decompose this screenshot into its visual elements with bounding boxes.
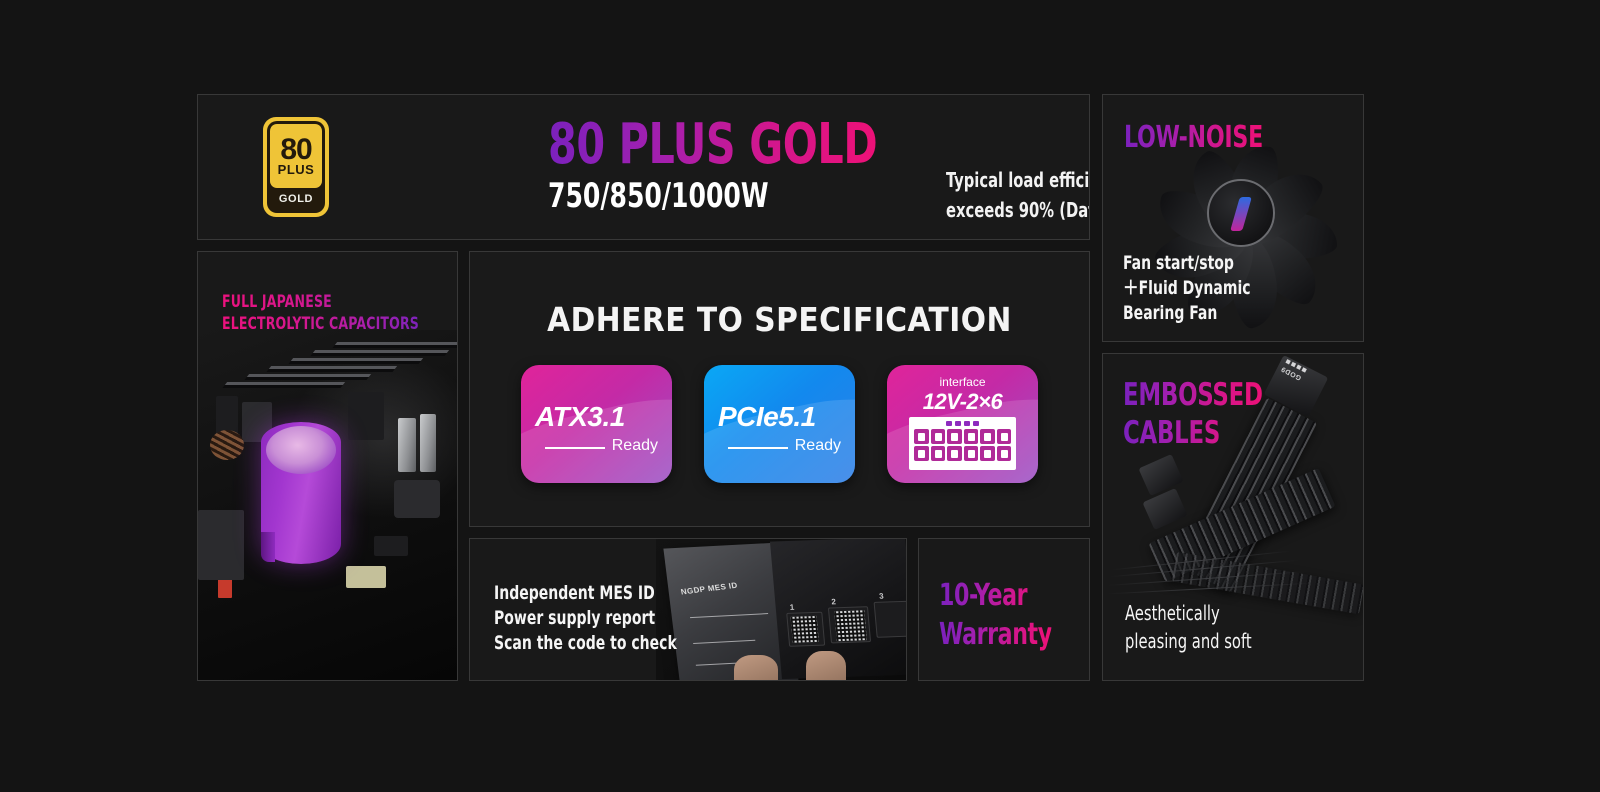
- spec-badge-list: ATX3.1 Ready PCIe5.1 Ready interface 12V…: [470, 365, 1089, 483]
- badge-number: 80: [280, 137, 311, 163]
- fan-title: LOW-NOISE: [1124, 122, 1263, 154]
- badge-pcie51[interactable]: PCIe5.1 Ready: [704, 365, 855, 483]
- spec-heading: ADHERE TO SPECIFICATION: [470, 300, 1089, 339]
- efficiency-wattage: 750/850/1000W: [548, 176, 769, 216]
- badge-atx31[interactable]: ATX3.1 Ready: [521, 365, 672, 483]
- cables-title-line-1: EMBOSSED: [1123, 376, 1263, 414]
- warranty-line-1: 10-Year: [939, 576, 1052, 615]
- fan-line-1: Fan start/stop: [1123, 251, 1251, 276]
- warranty-text: 10-Year Warranty: [939, 576, 1076, 654]
- qr-code-2: [834, 610, 867, 641]
- cables-desc-line-2: pleasing and soft: [1125, 627, 1252, 655]
- mes-line-3: Scan the code to check: [494, 631, 677, 656]
- badge-plus: PLUS: [278, 163, 315, 176]
- 80plus-gold-badge-icon: 80 PLUS GOLD: [263, 117, 329, 217]
- capacitors-title-line1: FULL JAPANESE: [222, 291, 419, 313]
- cables-title: EMBOSSED CABLES: [1123, 376, 1293, 452]
- badge-rule: [728, 447, 788, 449]
- capacitors-title: FULL JAPANESE ELECTROLYTIC CAPACITORS: [222, 291, 458, 335]
- cable-plug-left-a: [1138, 454, 1183, 496]
- fan-line-3: Bearing Fan: [1123, 301, 1251, 326]
- step-3-number: 3: [879, 592, 884, 601]
- warranty-line-2: Warranty: [939, 615, 1052, 654]
- cables-title-line-2: CABLES: [1123, 414, 1263, 452]
- fan-hub-logo: [1207, 179, 1275, 247]
- efficiency-note-line2: exceeds 90% (Data from 80plus): [946, 195, 1090, 225]
- badge-tier: GOLD: [270, 188, 322, 210]
- fan-line-2: ＋Fluid Dynamic: [1123, 276, 1251, 301]
- mes-line-1: Independent MES ID: [494, 581, 677, 606]
- badge-pcie51-ready: Ready: [795, 437, 841, 455]
- mes-line-2: Power supply report: [494, 606, 677, 631]
- badge-12v-interface-label: interface: [887, 375, 1038, 389]
- badge-rule: [545, 447, 605, 449]
- panel-efficiency: 80 PLUS GOLD 80 PLUS GOLD 750/850/1000W …: [197, 94, 1090, 240]
- badge-atx31-label: ATX3.1: [535, 401, 625, 433]
- fan-description: Fan start/stop ＋Fluid Dynamic Bearing Fa…: [1123, 251, 1279, 326]
- panel-low-noise-fan: LOW-NOISE Fan start/stop ＋Fluid Dynamic …: [1102, 94, 1364, 342]
- efficiency-title: 80 PLUS GOLD: [548, 116, 877, 174]
- cables-desc-line-1: Aesthetically: [1125, 599, 1252, 627]
- badge-12v-label: 12V-2×6: [887, 389, 1038, 415]
- psu-internals-photo: [198, 330, 457, 680]
- efficiency-note-line1: Typical load efficiency: [946, 165, 1090, 195]
- feature-grid: 80 PLUS GOLD 80 PLUS GOLD 750/850/1000W …: [197, 94, 1364, 681]
- highlighted-capacitor: [261, 422, 341, 564]
- panel-warranty: 10-Year Warranty: [918, 538, 1090, 681]
- power-connector-icon: [909, 417, 1016, 470]
- panel-mes-id: NGDP MES ID 1 2 3 Independent MES: [469, 538, 907, 681]
- mes-description: Independent MES ID Power supply report S…: [494, 581, 717, 656]
- efficiency-note: Typical load efficiency exceeds 90% (Dat…: [946, 165, 1090, 225]
- panel-embossed-cables: GOD9 EMBOSSED CABLES Aesthetically pleas…: [1102, 353, 1364, 681]
- badge-atx31-ready: Ready: [612, 437, 658, 455]
- badge-pcie51-label: PCIe5.1: [718, 401, 816, 433]
- hand-left: [734, 655, 778, 680]
- badge-12v2x6[interactable]: interface 12V-2×6: [887, 365, 1038, 483]
- step-2-number: 2: [831, 597, 836, 606]
- hand-right: [806, 651, 846, 680]
- panel-specifications: ADHERE TO SPECIFICATION ATX3.1 Ready PCI…: [469, 251, 1090, 527]
- step-1-number: 1: [789, 603, 794, 612]
- cables-description: Aesthetically pleasing and soft: [1125, 599, 1279, 655]
- qr-code-1: [791, 616, 819, 643]
- panel-capacitors: FULL JAPANESE ELECTROLYTIC CAPACITORS La…: [197, 251, 458, 681]
